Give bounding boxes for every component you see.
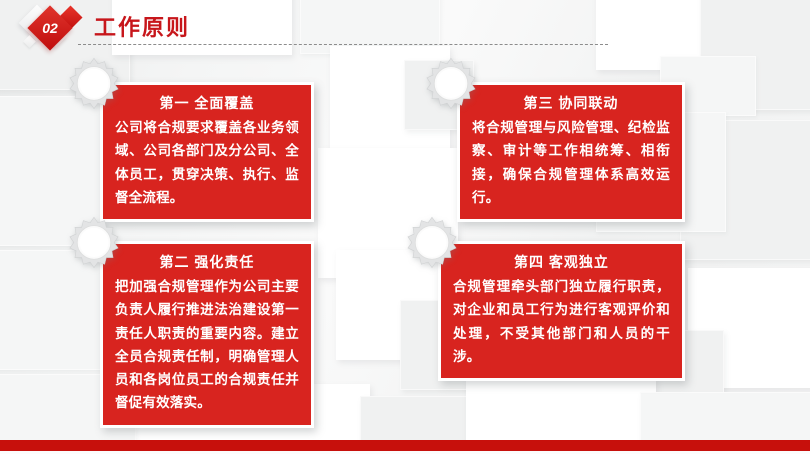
card-body: 合规管理牵头部门独立履行职责，对企业和员工行为进行客观评价和处理，不受其他部门和… bbox=[453, 275, 670, 368]
principle-card-1[interactable]: 第一 全面覆盖 公司将合规要求覆盖各业务领域、公司各部门及分公司、全体员工，贯穿… bbox=[100, 82, 314, 222]
card-title: 第四 客观独立 bbox=[453, 253, 670, 271]
card-body: 将合规管理与风险管理、纪检监察、审计等工作相统筹、相衔接，确保合规管理体系高效运… bbox=[472, 116, 670, 209]
principle-card-4[interactable]: 第四 客观独立 合规管理牵头部门独立履行职责，对企业和员工行为进行客观评价和处理… bbox=[438, 241, 685, 381]
card-title: 第二 强化责任 bbox=[115, 253, 299, 271]
title-divider bbox=[78, 44, 608, 45]
card-title: 第三 协同联动 bbox=[472, 94, 670, 112]
section-number: 02 bbox=[34, 12, 66, 44]
gear-icon bbox=[404, 215, 460, 271]
principle-card-3[interactable]: 第三 协同联动 将合规管理与风险管理、纪检监察、审计等工作相统筹、相衔接，确保合… bbox=[457, 82, 685, 222]
card-body: 把加强合规管理作为公司主要负责人履行推进法治建设第一责任人职责的重要内容。建立全… bbox=[115, 275, 299, 414]
principle-card-2[interactable]: 第二 强化责任 把加强合规管理作为公司主要负责人履行推进法治建设第一责任人职责的… bbox=[100, 241, 314, 428]
footer-accent-bar bbox=[0, 440, 810, 451]
gear-icon bbox=[423, 56, 479, 112]
page-title: 工作原则 bbox=[94, 10, 190, 42]
gear-icon bbox=[66, 215, 122, 271]
bg-square bbox=[466, 378, 656, 448]
card-title: 第一 全面覆盖 bbox=[115, 94, 299, 112]
gear-icon bbox=[66, 56, 122, 112]
page-header: 02 工作原则 bbox=[0, 0, 810, 56]
card-body: 公司将合规要求覆盖各业务领域、公司各部门及分公司、全体员工，贯穿决策、执行、监督… bbox=[115, 116, 299, 209]
